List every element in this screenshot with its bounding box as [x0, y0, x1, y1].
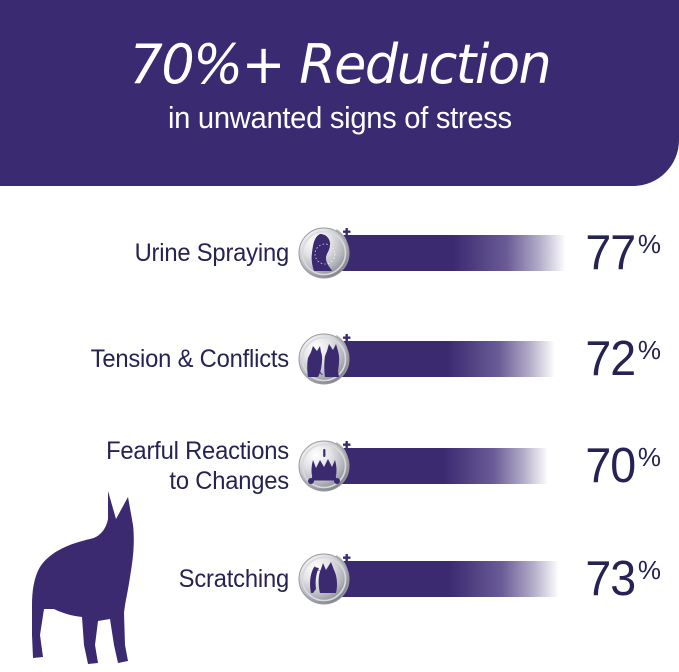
stat-bar-tension-conflicts: [340, 341, 555, 377]
stat-label-scratching: Scratching: [33, 548, 290, 610]
stat-bar-fill: [340, 448, 548, 484]
stat-row-urine-spraying: Urine Spraying: [0, 222, 679, 284]
stat-row-scratching: Scratching: [0, 548, 679, 610]
stat-row-tension-conflicts: Tension & Conflicts: [0, 328, 679, 390]
stat-bar-urine-spraying: [340, 235, 566, 271]
stat-label-line: Urine Spraying: [135, 238, 289, 269]
stat-value-number: 77: [586, 229, 636, 278]
stat-label-line: Fearful Reactions: [106, 436, 289, 467]
stat-bar-fill: [340, 561, 559, 597]
page-subtitle: in unwanted signs of stress: [168, 102, 512, 133]
stat-bar-fill: [340, 235, 566, 271]
percent-symbol: %: [638, 444, 661, 470]
stat-label-line: Tension & Conflicts: [91, 344, 289, 375]
stat-bar-scratching: [340, 561, 559, 597]
page-title: 70%+ Reduction: [129, 38, 550, 92]
cat-scratching-icon: [296, 549, 356, 609]
stat-label-line: Scratching: [179, 564, 289, 595]
stat-value-number: 72: [586, 335, 636, 384]
stat-label-tension-conflicts: Tension & Conflicts: [33, 328, 290, 390]
percent-symbol: %: [638, 231, 661, 257]
cats-tension-conflict-icon: [296, 329, 356, 389]
stat-label-line: to Changes: [169, 466, 289, 497]
stat-value-number: 73: [586, 555, 636, 604]
cat-fearful-hiding-icon: [296, 436, 356, 496]
stat-bar-fill: [340, 341, 555, 377]
cat-urine-spraying-icon: [296, 223, 356, 283]
stat-label-urine-spraying: Urine Spraying: [33, 222, 290, 284]
percent-symbol: %: [638, 337, 661, 363]
stat-row-fearful-reactions: Fearful Reactions to Changes: [0, 435, 679, 497]
percent-symbol: %: [638, 557, 661, 583]
stat-value-number: 70: [586, 442, 636, 491]
header-banner: 70%+ Reduction in unwanted signs of stre…: [0, 0, 679, 186]
stat-label-fearful-reactions: Fearful Reactions to Changes: [33, 435, 290, 497]
stat-bar-fearful-reactions: [340, 448, 548, 484]
stats-rows: Urine Spraying: [0, 186, 679, 667]
